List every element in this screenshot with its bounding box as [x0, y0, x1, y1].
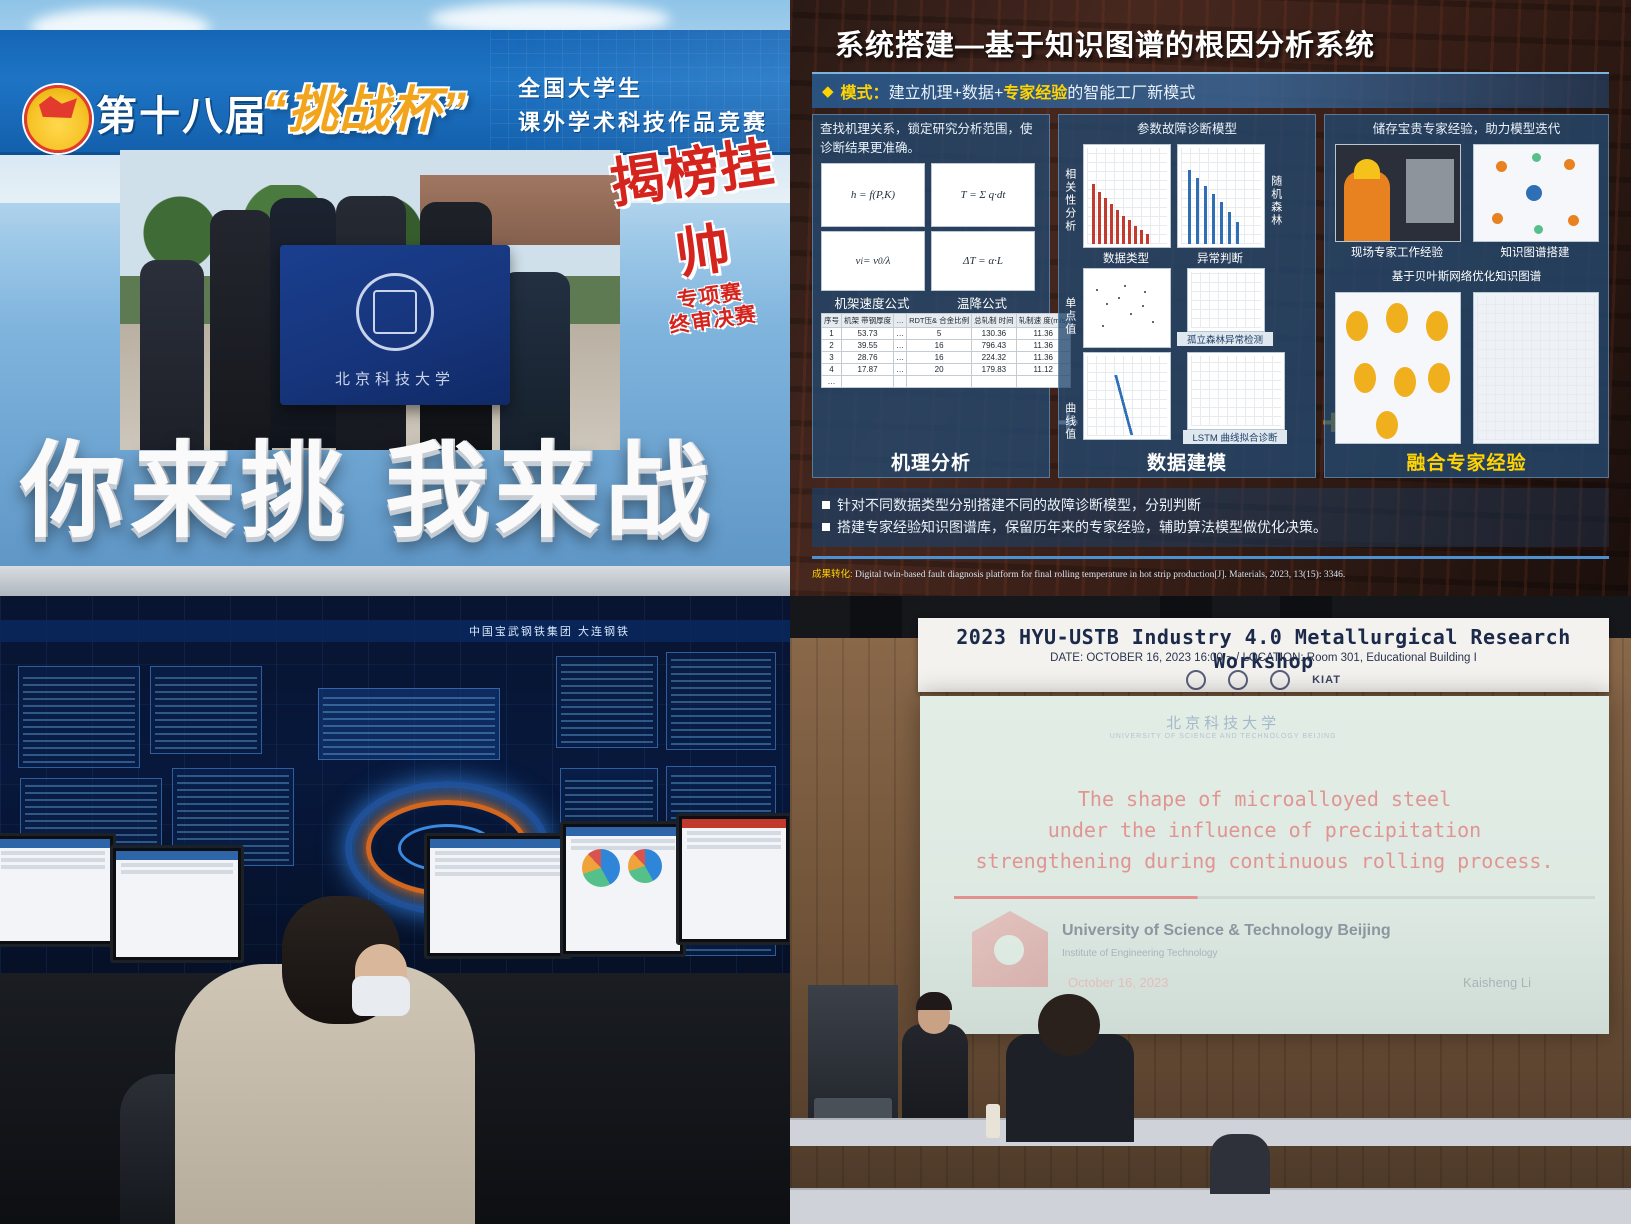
operator-face-mask [352, 976, 410, 1016]
projection-screen: 北京科技大学 UNIVERSITY OF SCIENCE AND TECHNOL… [920, 696, 1609, 1034]
person [140, 260, 204, 450]
mode-seg2: 数据 [962, 85, 994, 102]
th-0: 序号 [822, 313, 842, 327]
slide-title-line1: The shape of microalloyed steel [920, 784, 1609, 815]
th-4: 总轧制 时间 [972, 313, 1017, 327]
formula-2-text: T = Σ q·dt [932, 164, 1034, 226]
monitor [676, 813, 790, 945]
screen-row [1, 858, 105, 862]
cell: 28.76 [842, 351, 894, 363]
panel1-parameter-table: 序号 机架 带钢厚度 … RDT压& 合金比例 总轧制 时间 轧制速 度(m/s… [821, 313, 1033, 388]
cell: 17.87 [842, 363, 894, 375]
monitor-screen [566, 827, 680, 951]
diamond-bullet-icon: ◆ [822, 82, 834, 100]
knowledge-graph-card [1473, 144, 1599, 242]
panel-ppt-slide: 系统搭建—基于知识图谱的根因分析系统 ◆ 模式：建立机理+数据+专家经验的智能工… [790, 0, 1631, 596]
bullet-row-2: 搭建专家经验知识图谱库，保留历年来的专家经验，辅助算法模型做优化决策。 [822, 516, 1599, 538]
mode-plus2: + [994, 85, 1003, 102]
monitor [424, 833, 572, 959]
screen-header [566, 827, 680, 836]
panel1-footer: 机理分析 [813, 445, 1049, 477]
banner-cup-name-text: “挑战杯” [262, 70, 467, 142]
screen-row [687, 831, 781, 835]
table-row: … [822, 375, 1071, 387]
wall-panel [18, 666, 140, 768]
panel2-label-anomaly: 异常判断 [1177, 250, 1263, 266]
curve-card [1083, 352, 1171, 440]
mode-plus1: + [953, 85, 962, 102]
screen-row [1, 851, 105, 855]
slide-title-line2: under the influence of precipitation [920, 815, 1609, 846]
screen-header [116, 851, 238, 860]
monitor-screen [682, 819, 786, 939]
formula-card-2: T = Σ q·dt [931, 163, 1035, 227]
cell: 130.36 [972, 327, 1017, 339]
cell: 224.32 [972, 351, 1017, 363]
monitor [0, 833, 116, 947]
ustb-mark-icon [972, 911, 1048, 987]
screen-header [0, 839, 110, 848]
th-2: … [894, 313, 907, 327]
panel-expert-experience: 储存宝贵专家经验，助力模型迭代 [1324, 114, 1609, 478]
panel2-label-datatype: 数据类型 [1083, 250, 1169, 266]
slide-divider [954, 896, 1595, 899]
video-wall-brand-text: 中国宝武钢铁集团 大连钢铁 [469, 623, 630, 639]
video-wall-band [0, 620, 790, 642]
panel1-note: 查找机理关系，锁定研究分析范围，使诊断结果更准确。 [813, 115, 1049, 161]
person [210, 210, 272, 450]
formula-card-4: ΔT = α·L [931, 231, 1035, 291]
monitor-screen [0, 839, 110, 941]
screen-row [687, 845, 781, 849]
panel3-note: 储存宝贵专家经验，助力模型迭代 [1325, 115, 1608, 142]
foam-base [0, 566, 790, 596]
grid [1191, 356, 1281, 426]
panel2-footer: 数据建模 [1059, 445, 1315, 477]
citation-text: Digital twin-based fault diagnosis platf… [855, 570, 1345, 580]
cell: … [894, 351, 907, 363]
stamp-big-text: 揭榜挂帅 [599, 117, 790, 298]
screen-row [435, 865, 561, 869]
table-row: 2 39.55 … 16 796.43 11.36 [822, 339, 1071, 351]
mode-label: 模式： [841, 85, 889, 102]
panel2-body: 相关性分析 单点值 曲线值 [1059, 142, 1315, 445]
water-bottle [986, 1104, 1000, 1138]
screen-row [435, 858, 561, 862]
bullet-square-icon [822, 523, 830, 531]
panel3-label-bayes: 基于贝叶斯网络优化知识图谱 [1335, 268, 1598, 284]
cell: 20 [907, 363, 972, 375]
cell: 39.55 [842, 339, 894, 351]
cell: 4 [822, 363, 842, 375]
mode-seg1: 建立机理 [889, 85, 953, 102]
th-3: RDT压& 合金比例 [907, 313, 972, 327]
kiat-logo-text: KIAT [1312, 674, 1341, 686]
scatter-card [1083, 268, 1171, 348]
slide-title-line3: strengthening during continuous rolling … [920, 846, 1609, 877]
red-stamp-graphic: 揭榜挂帅 专项赛 终审决赛 [599, 117, 790, 310]
cell [972, 375, 1017, 387]
cell: 5 [907, 327, 972, 339]
optimized-kg-card [1473, 292, 1599, 444]
photo-collage: 第十八届 “挑战杯” 全国大学生 课外学术科技作品竞赛 北京科技大学 揭榜挂帅 [0, 0, 1631, 1224]
panel-workshop-presentation: 2023 HYU-USTB Industry 4.0 Metallurgical… [790, 596, 1631, 1224]
monitor-screen [430, 839, 566, 953]
cell: … [894, 339, 907, 351]
cell [842, 375, 894, 387]
panel3-label-field-experience: 现场专家工作经验 [1335, 244, 1459, 260]
slide-date: October 16, 2023 [1068, 975, 1168, 990]
mode-seg4: 的智能工厂新模式 [1067, 85, 1195, 102]
screen-row [435, 872, 561, 876]
worker-photo-card [1335, 144, 1461, 242]
wall-panel [150, 666, 262, 754]
panel2-side-label-single: 单点值 [1059, 262, 1079, 372]
panel2-label-isolation: 孤立森林异常检测 [1177, 332, 1273, 346]
cell: 53.73 [842, 327, 894, 339]
wall-panel [318, 688, 500, 760]
slide-org-en-sub: Institute of Engineering Technology [1062, 948, 1217, 959]
hyu-logo-icon [1228, 670, 1248, 690]
panel3-footer: 融合专家经验 [1325, 445, 1608, 477]
citation-prefix: 成果转化: [812, 569, 853, 580]
cell: 1 [822, 327, 842, 339]
chart-card-rf [1177, 144, 1265, 248]
workshop-logo-row: KIAT [918, 670, 1609, 690]
workshop-title: 2023 HYU-USTB Industry 4.0 Metallurgical… [918, 625, 1609, 673]
group-photo: 北京科技大学 [120, 150, 620, 450]
banner-subtitle-line1: 全国大学生 [518, 72, 768, 106]
workshop-banner: 2023 HYU-USTB Industry 4.0 Metallurgical… [918, 618, 1609, 692]
bullet-text-2: 搭建专家经验知识图谱库，保留历年来的专家经验，辅助算法模型做优化决策。 [837, 519, 1327, 535]
screen-row [571, 839, 675, 843]
workshop-details: DATE: OCTOBER 16, 2023 16:00 ~ / LOCATIO… [918, 652, 1609, 664]
flag-university-name: 北京科技大学 [280, 368, 510, 389]
slide-title: 系统搭建—基于知识图谱的根因分析系统 [835, 22, 1375, 64]
speaker-head [918, 998, 950, 1034]
formula-4-text: ΔT = α·L [932, 232, 1034, 290]
screen-header [682, 819, 786, 828]
panel2-label-lstm: LSTM 曲线拟合诊断 [1183, 430, 1287, 444]
screen-row [121, 870, 233, 874]
panel2-side-label-correlation: 相关性分析 [1059, 142, 1079, 260]
citation-divider [812, 556, 1609, 559]
person [500, 272, 570, 450]
isolation-forest-card [1187, 268, 1265, 332]
formula-card-1: h = f(P,K) [821, 163, 925, 227]
pie-chart [628, 849, 662, 883]
panel3-label-kg-build: 知识图谱搭建 [1473, 244, 1597, 260]
table-row: 4 17.87 … 20 179.83 11.12 [822, 363, 1071, 375]
university-flag: 北京科技大学 [280, 245, 510, 405]
panel2-side-label-curve: 曲线值 [1059, 372, 1079, 472]
screen-row [435, 851, 561, 855]
screen-row [571, 846, 675, 850]
audience-member [1210, 1134, 1270, 1194]
formula-card-3: vi = v0/λ [821, 231, 925, 291]
lstm-card [1187, 352, 1285, 430]
slide-citation: 成果转化: Digital twin-based fault diagnosis… [812, 566, 1621, 580]
university-seal-icon [356, 273, 434, 351]
cell: 3 [822, 351, 842, 363]
bullet-row-1: 针对不同数据类型分别搭建不同的故障诊断模型，分别判断 [822, 494, 1599, 516]
slide-mode-bar: ◆ 模式：建立机理+数据+专家经验的智能工厂新模式 [812, 72, 1609, 108]
banner-edition-text: 第十八届 [96, 82, 268, 142]
panel-competition-banner: 第十八届 “挑战杯” 全国大学生 课外学术科技作品竞赛 北京科技大学 揭榜挂帅 [0, 0, 790, 596]
posco-logo-icon [1270, 670, 1290, 690]
panel1-caption-temp: 温降公式 [931, 293, 1033, 312]
ceiling-box [850, 596, 902, 638]
cell: … [894, 327, 907, 339]
panel-mechanism-analysis: 查找机理关系，锁定研究分析范围，使诊断结果更准确。 h = f(P,K) T =… [812, 114, 1050, 478]
wall-panel [556, 656, 658, 748]
screen-header [430, 839, 566, 848]
table-header-row: 序号 机架 带钢厚度 … RDT压& 合金比例 总轧制 时间 轧制速 度(m/s… [822, 313, 1071, 327]
panel-control-room: 中国宝武钢铁集团 大连钢铁 [0, 596, 790, 1224]
slide-bullets: 针对不同数据类型分别搭建不同的故障诊断模型，分别判断 搭建专家经验知识图谱库，保… [812, 488, 1609, 547]
chart-card-correlation [1083, 144, 1171, 248]
youth-league-emblem-icon [24, 85, 92, 153]
formula-1-text: h = f(P,K) [822, 164, 924, 226]
parameter-table: 序号 机架 带钢厚度 … RDT压& 合金比例 总轧制 时间 轧制速 度(m/s… [821, 313, 1071, 388]
bullet-text-1: 针对不同数据类型分别搭建不同的故障诊断模型，分别判断 [837, 497, 1201, 513]
cell: … [822, 375, 842, 387]
foam-letters-display: 你来挑 我来战 [20, 440, 770, 570]
grid [1191, 272, 1261, 328]
cell: 16 [907, 339, 972, 351]
slide-university-logo: 北京科技大学 UNIVERSITY OF SCIENCE AND TECHNOL… [1110, 712, 1337, 740]
panel1-body: h = f(P,K) T = Σ q·dt vi = v0/λ ΔT = α·L… [813, 161, 1049, 446]
slide-panels: 查找机理关系，锁定研究分析范围，使诊断结果更准确。 h = f(P,K) T =… [812, 114, 1609, 478]
cell: … [894, 363, 907, 375]
pie-chart [582, 849, 620, 887]
mode-seg3-highlight: 专家经验 [1003, 85, 1067, 102]
panel-data-modeling: 参数故障诊断模型 相关性分析 单点值 曲线值 [1058, 114, 1316, 478]
cell: 16 [907, 351, 972, 363]
bullet-square-icon [822, 501, 830, 509]
panel2-side-label-rf: 随机森林 [1265, 142, 1285, 260]
slide-author: Kaisheng Li [1463, 975, 1531, 990]
curve-line [1088, 375, 1166, 435]
audience-head [1038, 994, 1100, 1056]
cell: 796.43 [972, 339, 1017, 351]
panel1-caption-speed: 机架速度公式 [821, 293, 923, 312]
th-1: 机架 带钢厚度 [842, 313, 894, 327]
screen-row [121, 863, 233, 867]
slide-org-cn-sub: UNIVERSITY OF SCIENCE AND TECHNOLOGY BEI… [1110, 733, 1337, 740]
ustb-logo-icon [1186, 670, 1206, 690]
foam-letters-text: 你来挑 我来战 [20, 440, 715, 544]
formula-3-text: vi = v0/λ [822, 232, 924, 290]
cell [894, 375, 907, 387]
table-row: 3 28.76 … 16 224.32 11.36 [822, 351, 1071, 363]
panel3-body: 现场专家工作经验 知识图谱搭建 基于贝叶斯网络优化知识图谱 [1325, 142, 1608, 445]
slide-main-title: The shape of microalloyed steel under th… [920, 784, 1609, 877]
wall-panel [666, 652, 776, 750]
slide-org-en: University of Science & Technology Beiji… [1062, 922, 1391, 940]
bayes-network-card [1335, 292, 1461, 444]
screen-row [1, 865, 105, 869]
panel2-note: 参数故障诊断模型 [1059, 115, 1315, 142]
cell: 179.83 [972, 363, 1017, 375]
cell [907, 375, 972, 387]
table-row: 1 53.73 … 5 130.36 11.36 [822, 327, 1071, 339]
audience-table-back [790, 1118, 1631, 1146]
screen-row [687, 838, 781, 842]
cell: 2 [822, 339, 842, 351]
monitor [110, 845, 244, 963]
slide-org-cn: 北京科技大学 [1110, 712, 1337, 733]
monitor [560, 821, 686, 957]
grid [1477, 296, 1595, 440]
monitor-screen [116, 851, 238, 957]
mode-line: 模式：建立机理+数据+专家经验的智能工厂新模式 [841, 79, 1196, 103]
